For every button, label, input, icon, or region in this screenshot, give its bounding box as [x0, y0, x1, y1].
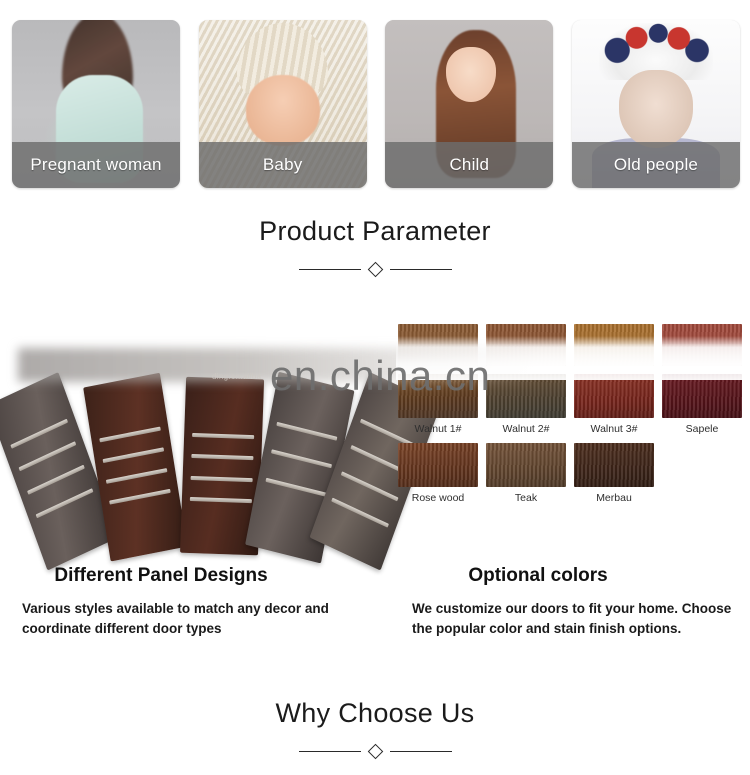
audience-card-label: Old people: [572, 142, 740, 188]
panel-designs-title: Different Panel Designs: [22, 565, 372, 587]
audience-card-label: Baby: [199, 142, 367, 188]
why-choose-us-section-header: Why Choose Us: [0, 698, 750, 757]
optional-colors-copy: Optional colors We customize our doors t…: [412, 565, 742, 640]
color-swatch-label: Walnut 2#: [486, 423, 566, 435]
color-swatch[interactable]: [662, 324, 742, 366]
feature-copy-row: Different Panel Designs Various styles a…: [0, 565, 750, 675]
color-swatch-rose-wood[interactable]: Rose wood: [398, 443, 478, 504]
color-swatch[interactable]: [486, 324, 566, 366]
color-swatch-teak[interactable]: Teak: [486, 443, 566, 504]
swatch-row: [398, 324, 738, 366]
divider-line-left: [299, 269, 361, 270]
product-parameter-section-header: Product Parameter: [0, 216, 750, 275]
color-swatch-walnut-3[interactable]: Walnut 3#: [574, 374, 654, 435]
audience-card-child[interactable]: Child: [385, 20, 553, 188]
optional-colors-swatch-grid: Walnut 1# Walnut 2# Walnut 3# Sapele: [398, 324, 738, 512]
color-swatch-label: Walnut 1#: [398, 423, 478, 435]
color-swatch-label: Teak: [486, 492, 566, 504]
feature-row: Walnut 1# Walnut 2# Walnut 3# Sapele: [0, 318, 750, 558]
audience-card-label: Child: [385, 142, 553, 188]
divider-line-left: [299, 751, 361, 752]
divider-line-right: [390, 269, 452, 270]
divider-ornament: [0, 746, 750, 757]
audience-card-old-people[interactable]: Old people: [572, 20, 740, 188]
diamond-icon: [367, 262, 383, 278]
door-panel-designs-photo: [30, 326, 360, 554]
watermark-secondary-text: ding.en.aliba: [212, 372, 261, 381]
color-swatch-label: Rose wood: [398, 492, 478, 504]
color-swatch-merbau[interactable]: Merbau: [574, 443, 654, 504]
swatch-row: Rose wood Teak Merbau: [398, 443, 738, 504]
optional-colors-body: We customize our doors to fit your home.…: [412, 599, 742, 640]
color-swatch-label: Sapele: [662, 423, 742, 435]
panel-designs-copy: Different Panel Designs Various styles a…: [22, 565, 372, 640]
divider-line-right: [390, 751, 452, 752]
swatch-row: Walnut 1# Walnut 2# Walnut 3# Sapele: [398, 374, 738, 435]
diamond-icon: [367, 744, 383, 760]
audience-card-baby[interactable]: Baby: [199, 20, 367, 188]
audience-card-pregnant-woman[interactable]: Pregnant woman: [12, 20, 180, 188]
page-title: Why Choose Us: [0, 698, 750, 729]
color-swatch[interactable]: [398, 324, 478, 366]
divider-ornament: [0, 264, 750, 275]
color-swatch-walnut-2[interactable]: Walnut 2#: [486, 374, 566, 435]
audience-card-label: Pregnant woman: [12, 142, 180, 188]
panel-designs-body: Various styles available to match any de…: [22, 599, 372, 640]
color-swatch[interactable]: [574, 324, 654, 366]
product-detail-page: Pregnant woman Baby Child Old people Pro…: [0, 0, 750, 775]
page-title: Product Parameter: [0, 216, 750, 247]
color-swatch-sapele[interactable]: Sapele: [662, 374, 742, 435]
audience-card-strip: Pregnant woman Baby Child Old people: [0, 0, 750, 200]
color-swatch-walnut-1[interactable]: Walnut 1#: [398, 374, 478, 435]
color-swatch-label: Walnut 3#: [574, 423, 654, 435]
color-swatch-label: Merbau: [574, 492, 654, 504]
optional-colors-title: Optional colors: [412, 565, 742, 587]
